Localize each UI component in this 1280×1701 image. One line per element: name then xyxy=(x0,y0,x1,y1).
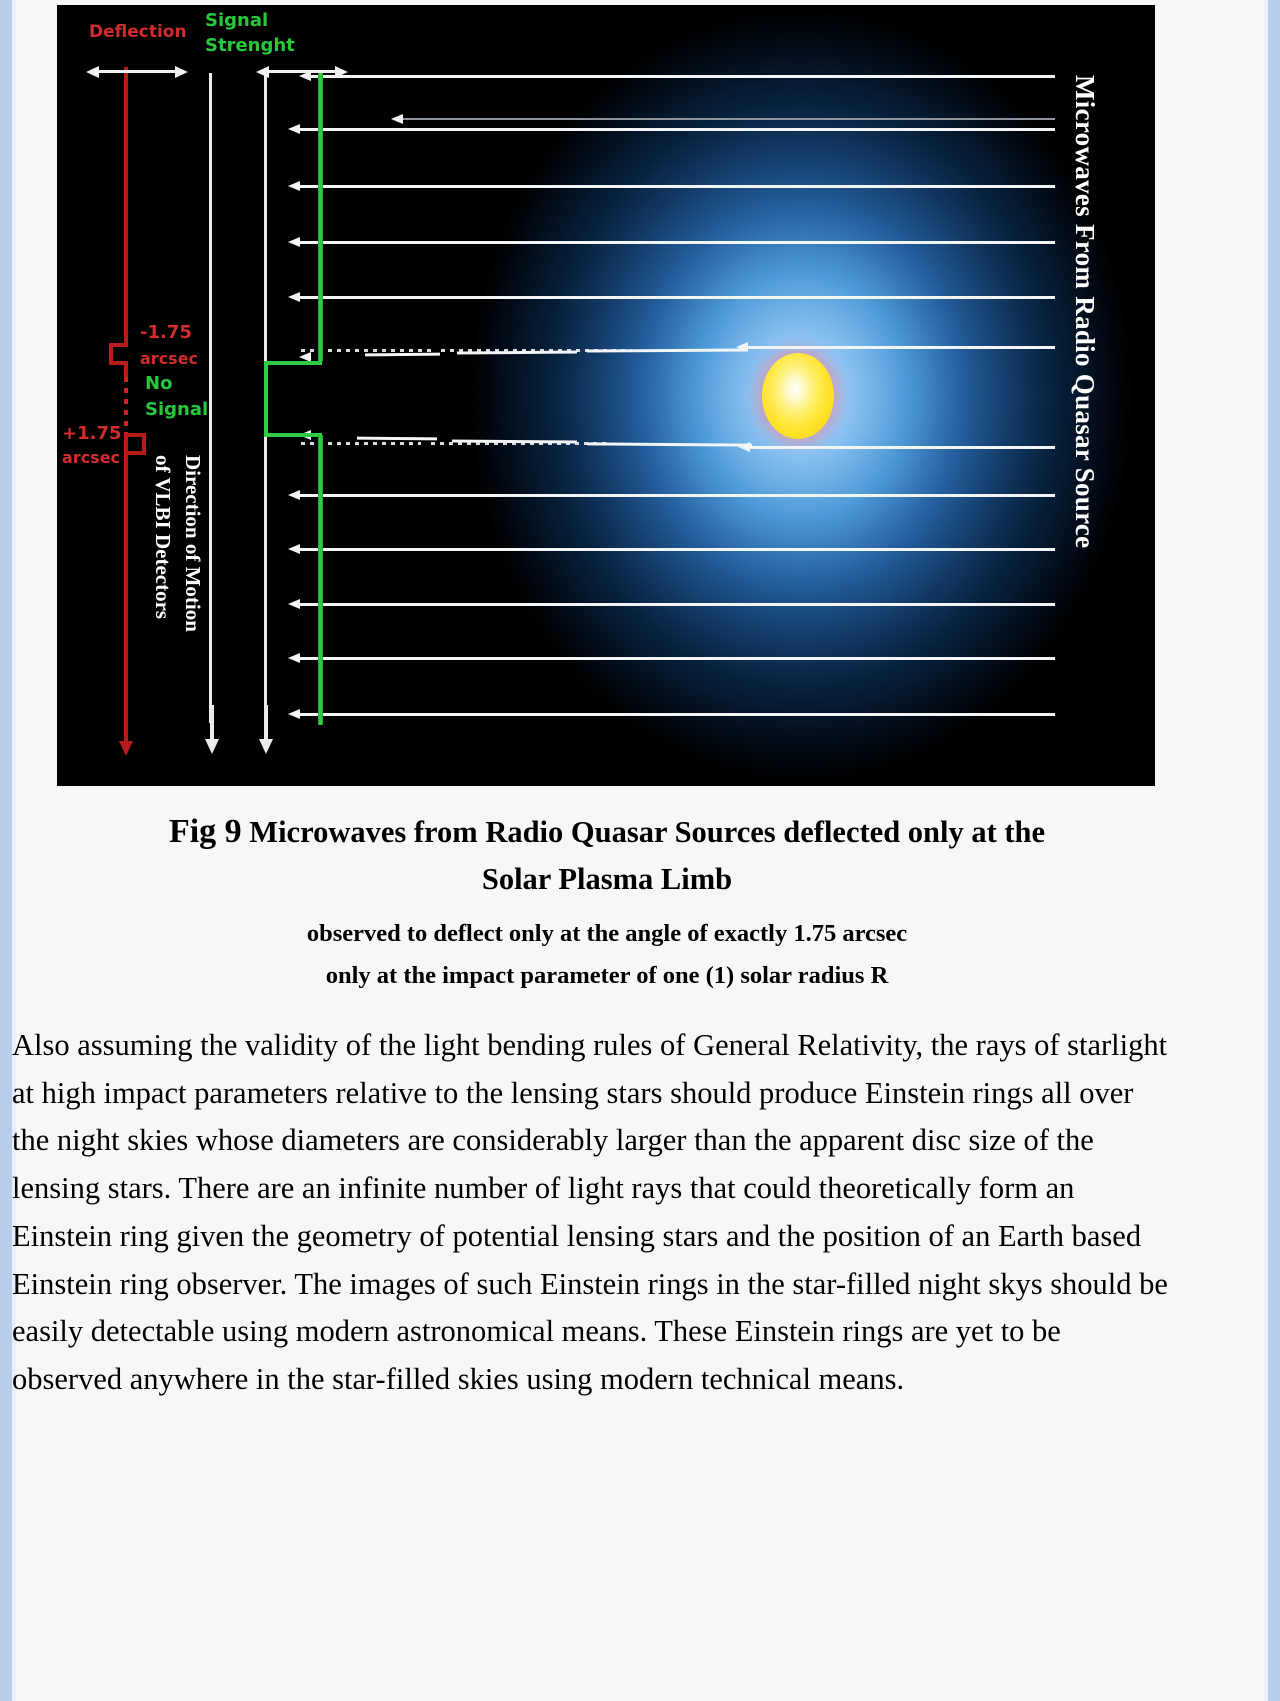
caption-fig-number: Fig 9 xyxy=(169,813,242,850)
label-plus-arcsec-value: +1.75 xyxy=(62,424,122,443)
ray-6-segment-b xyxy=(457,351,577,355)
label-signal-strength-line2: Strenght xyxy=(205,36,295,55)
signal-strength-dimension-bar xyxy=(268,70,336,73)
ray-1 xyxy=(310,75,1055,78)
label-no-signal-line1: No xyxy=(145,374,172,393)
caption-sub-line1: observed to deflect only at the angle of… xyxy=(57,913,1157,955)
label-of-vlbi-detectors: of VLBI Detectors xyxy=(150,455,175,619)
figure-caption: Fig 9 Microwaves from Radio Quasar Sourc… xyxy=(57,806,1157,998)
label-direction-of-motion: Direction of Motion xyxy=(180,455,205,632)
deflection-down-arrow xyxy=(124,705,128,743)
caption-sub-line2: only at the impact parameter of one (1) … xyxy=(57,955,1157,997)
signal-trace-upper xyxy=(319,73,322,361)
deflection-dimension-bar xyxy=(98,70,176,73)
ray-5 xyxy=(299,296,1055,299)
label-signal-strength-line1: Signal xyxy=(205,11,268,30)
deflection-axis-upper xyxy=(124,67,128,345)
ray-9 xyxy=(299,548,1055,551)
ray-6-segment-c xyxy=(587,348,747,352)
figure-panel: Deflection Signal Strenght -1.75 arcsec … xyxy=(57,5,1155,786)
deflection-no-signal-gap xyxy=(124,377,128,435)
deflection-axis-lower xyxy=(124,453,128,739)
sun-disc xyxy=(762,353,834,439)
caption-title-line1: Microwaves from Radio Quasar Sources def… xyxy=(242,815,1045,849)
label-plus-arcsec-unit: arcsec xyxy=(62,449,120,466)
ray-7-segment-a xyxy=(357,437,437,441)
page-edge-right xyxy=(1268,0,1280,1701)
signal-dropout-step-upper-h xyxy=(264,361,322,365)
ray-7-segment-c xyxy=(587,442,752,446)
page-edge-left xyxy=(0,0,12,1701)
ray-2b xyxy=(402,118,1055,120)
body-text: Also assuming the validity of the light … xyxy=(12,1022,1174,1404)
signal-dropout-step-lower-h xyxy=(264,433,322,437)
signal-dropout-flat xyxy=(264,361,268,437)
figure-right-title: Microwaves From Radio Quasar Source xyxy=(1069,75,1100,548)
signal-down-arrow xyxy=(264,705,268,741)
label-minus-arcsec-unit: arcsec xyxy=(140,350,198,367)
ray-6-segment-a xyxy=(365,353,440,357)
ray-3 xyxy=(299,185,1055,188)
label-deflection: Deflection xyxy=(89,23,187,41)
motion-axis-line xyxy=(209,73,212,723)
ray-10 xyxy=(299,603,1055,606)
body-paragraph: Also assuming the validity of the light … xyxy=(12,1022,1174,1404)
ray-8 xyxy=(299,494,1055,497)
ray-11 xyxy=(299,657,1055,660)
ray-4 xyxy=(299,241,1055,244)
ray-6-straight xyxy=(747,346,1055,349)
label-minus-arcsec-value: -1.75 xyxy=(140,323,192,342)
ray-7-straight xyxy=(749,446,1055,449)
label-no-signal-line2: Signal xyxy=(145,400,208,419)
caption-title-line2: Solar Plasma Limb xyxy=(95,857,1119,903)
motion-down-arrow xyxy=(210,705,214,741)
caption-main-line: Fig 9 Microwaves from Radio Quasar Sourc… xyxy=(95,806,1119,857)
signal-trace-lower xyxy=(319,435,322,725)
ray-12 xyxy=(299,713,1055,716)
ray-2 xyxy=(299,128,1055,131)
